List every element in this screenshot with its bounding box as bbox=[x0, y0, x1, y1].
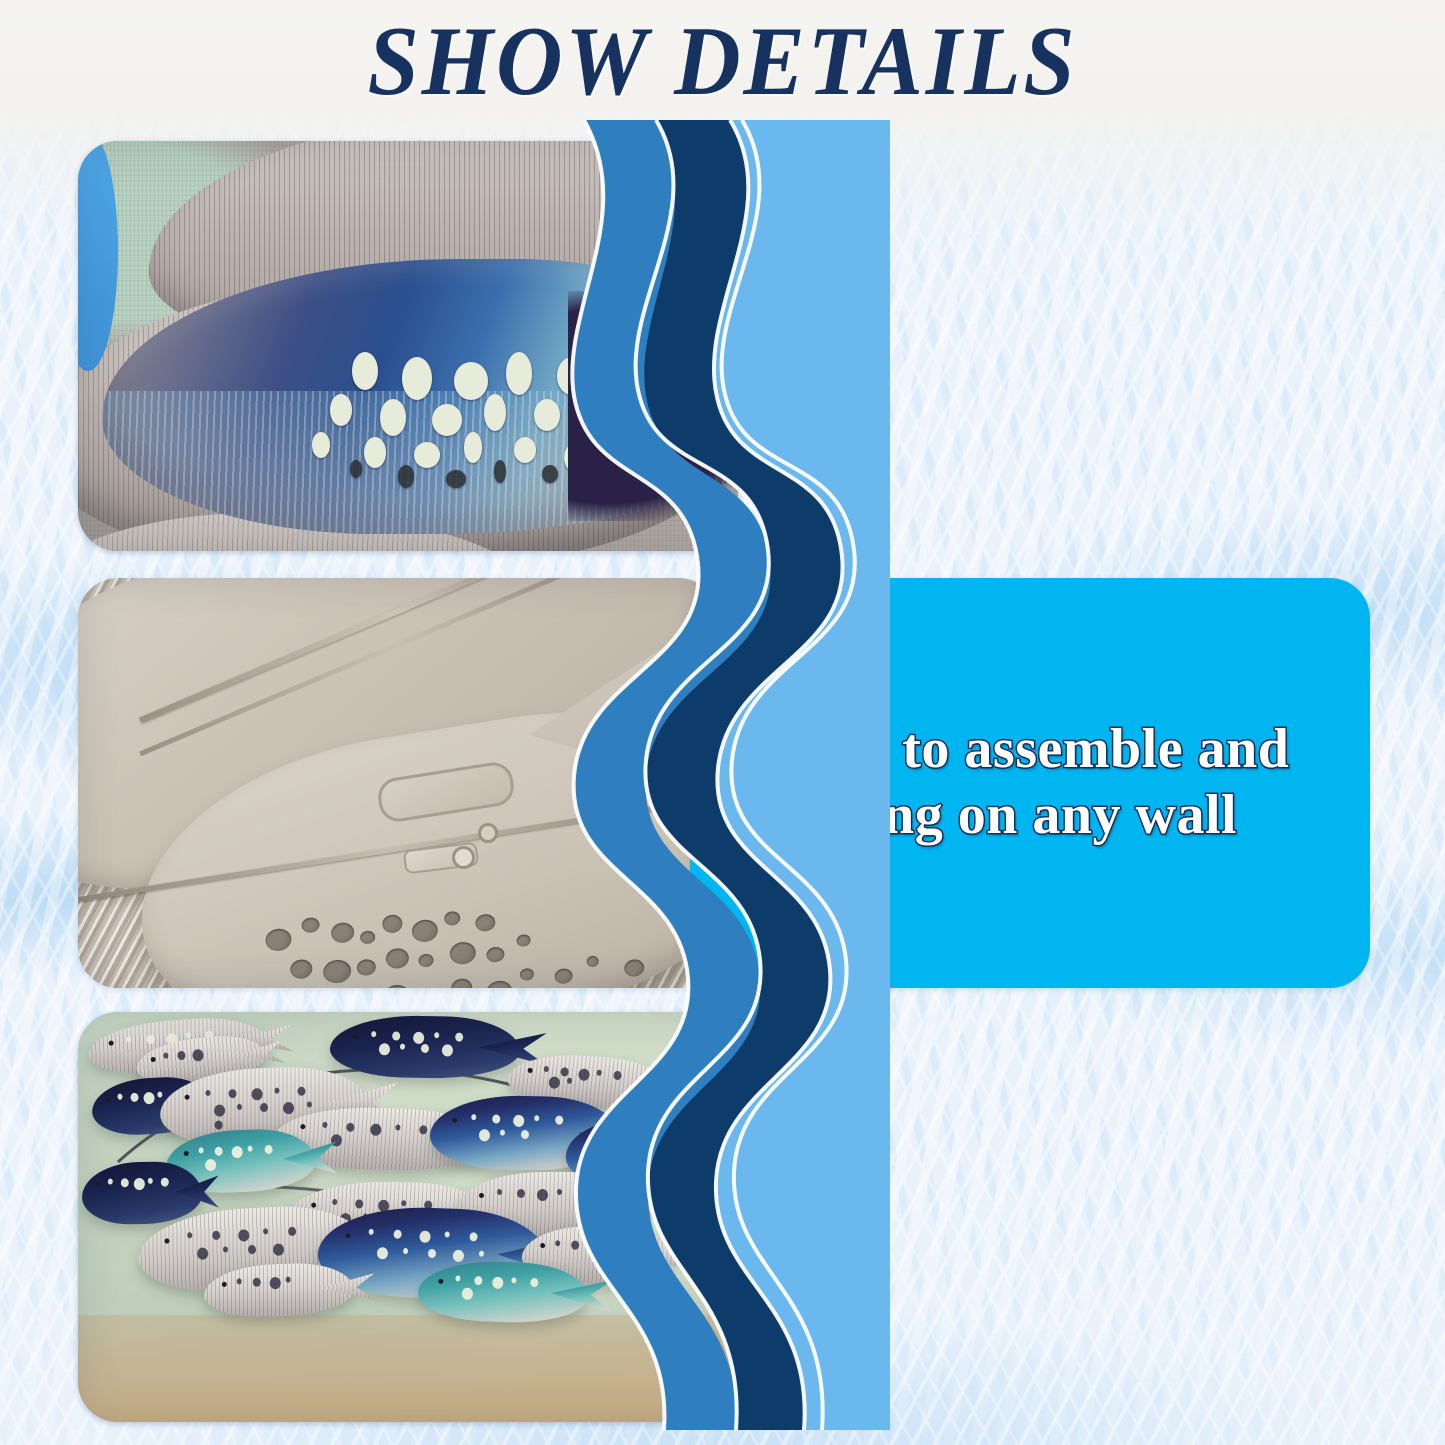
panel-1-photo-vignette bbox=[78, 141, 738, 551]
panel-3: Rustic retro style 3D modern fish metal … bbox=[78, 1012, 1370, 1422]
panel-1-photo bbox=[78, 141, 738, 551]
panel-1: Vintage distressed finish hollowed-out d… bbox=[78, 141, 1370, 551]
panel-3-photo-vignette bbox=[78, 1012, 738, 1422]
panel-2-photo-vignette bbox=[78, 578, 718, 988]
panel-2: Easy to assemble and hang on any wall bbox=[78, 578, 1370, 988]
panel-3-photo bbox=[78, 1012, 738, 1422]
panel-2-text: Easy to assemble and hang on any wall bbox=[716, 717, 1344, 848]
panel-2-text-card: Easy to assemble and hang on any wall bbox=[690, 578, 1370, 988]
page-title: SHOW DETAILS bbox=[51, 6, 1395, 116]
panel-2-photo bbox=[78, 578, 718, 988]
